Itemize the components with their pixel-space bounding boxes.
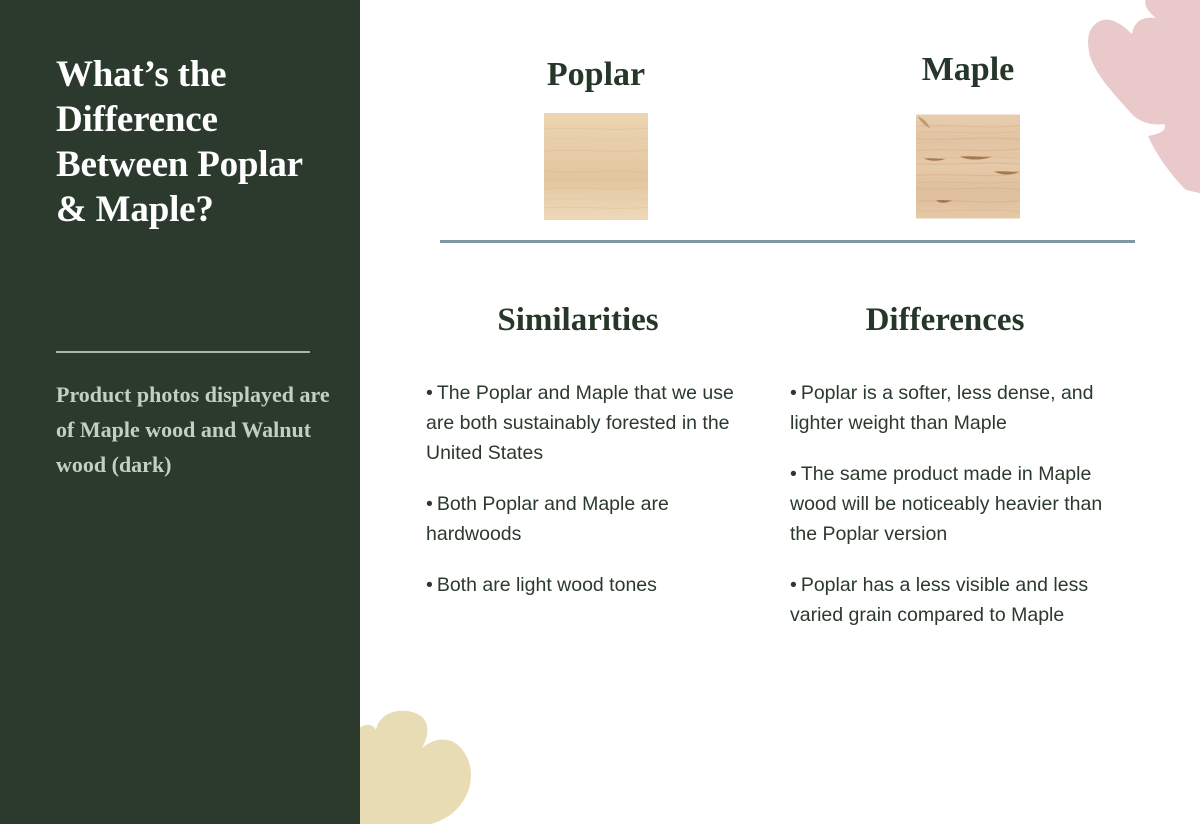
poplar-wood-swatch-icon <box>544 113 648 220</box>
list-item: •Poplar is a softer, less dense, and lig… <box>790 378 1108 438</box>
bullet-dot-icon: • <box>426 493 433 515</box>
list-item-text: Poplar is a softer, less dense, and ligh… <box>790 382 1094 434</box>
column-heading-similarities: Similarities <box>408 300 748 340</box>
list-item-text: Poplar has a less visible and less varie… <box>790 574 1088 626</box>
list-item: •The Poplar and Maple that we use are bo… <box>426 378 762 468</box>
list-item-text: The Poplar and Maple that we use are bot… <box>426 382 734 464</box>
list-item: •Both are light wood tones <box>426 570 762 600</box>
sidebar-note: Product photos displayed are of Maple wo… <box>56 377 338 482</box>
page-title: What’s the Difference Between Poplar & M… <box>56 52 324 232</box>
main-content: Poplar <box>360 0 1200 824</box>
column-heading-differences: Differences <box>772 300 1112 340</box>
list-item: •The same product made in Maple wood wil… <box>790 459 1108 549</box>
bullet-dot-icon: • <box>790 463 797 485</box>
bullet-dot-icon: • <box>426 382 433 404</box>
list-item: •Both Poplar and Maple are hardwoods <box>426 489 762 549</box>
list-item-text: The same product made in Maple wood will… <box>790 463 1102 545</box>
wood-sample-maple: Maple <box>818 50 1118 220</box>
sidebar-divider <box>56 351 310 353</box>
maple-wood-swatch-icon <box>916 113 1020 220</box>
slide-canvas: What’s the Difference Between Poplar & M… <box>0 0 1200 824</box>
column-similarities: Similarities •The Poplar and Maple that … <box>408 300 748 621</box>
bullet-list-similarities: •The Poplar and Maple that we use are bo… <box>426 378 762 600</box>
section-divider <box>440 240 1135 243</box>
wood-sample-poplar: Poplar <box>446 55 746 220</box>
bullet-dot-icon: • <box>426 574 433 596</box>
bullet-dot-icon: • <box>790 574 797 596</box>
list-item-text: Both are light wood tones <box>437 574 657 596</box>
bullet-dot-icon: • <box>790 382 797 404</box>
sidebar: What’s the Difference Between Poplar & M… <box>0 0 360 824</box>
list-item: •Poplar has a less visible and less vari… <box>790 570 1108 630</box>
wood-sample-label-poplar: Poplar <box>446 55 746 95</box>
list-item-text: Both Poplar and Maple are hardwoods <box>426 493 669 545</box>
bullet-list-differences: •Poplar is a softer, less dense, and lig… <box>790 378 1108 630</box>
wood-sample-label-maple: Maple <box>818 50 1118 90</box>
column-differences: Differences •Poplar is a softer, less de… <box>772 300 1112 651</box>
